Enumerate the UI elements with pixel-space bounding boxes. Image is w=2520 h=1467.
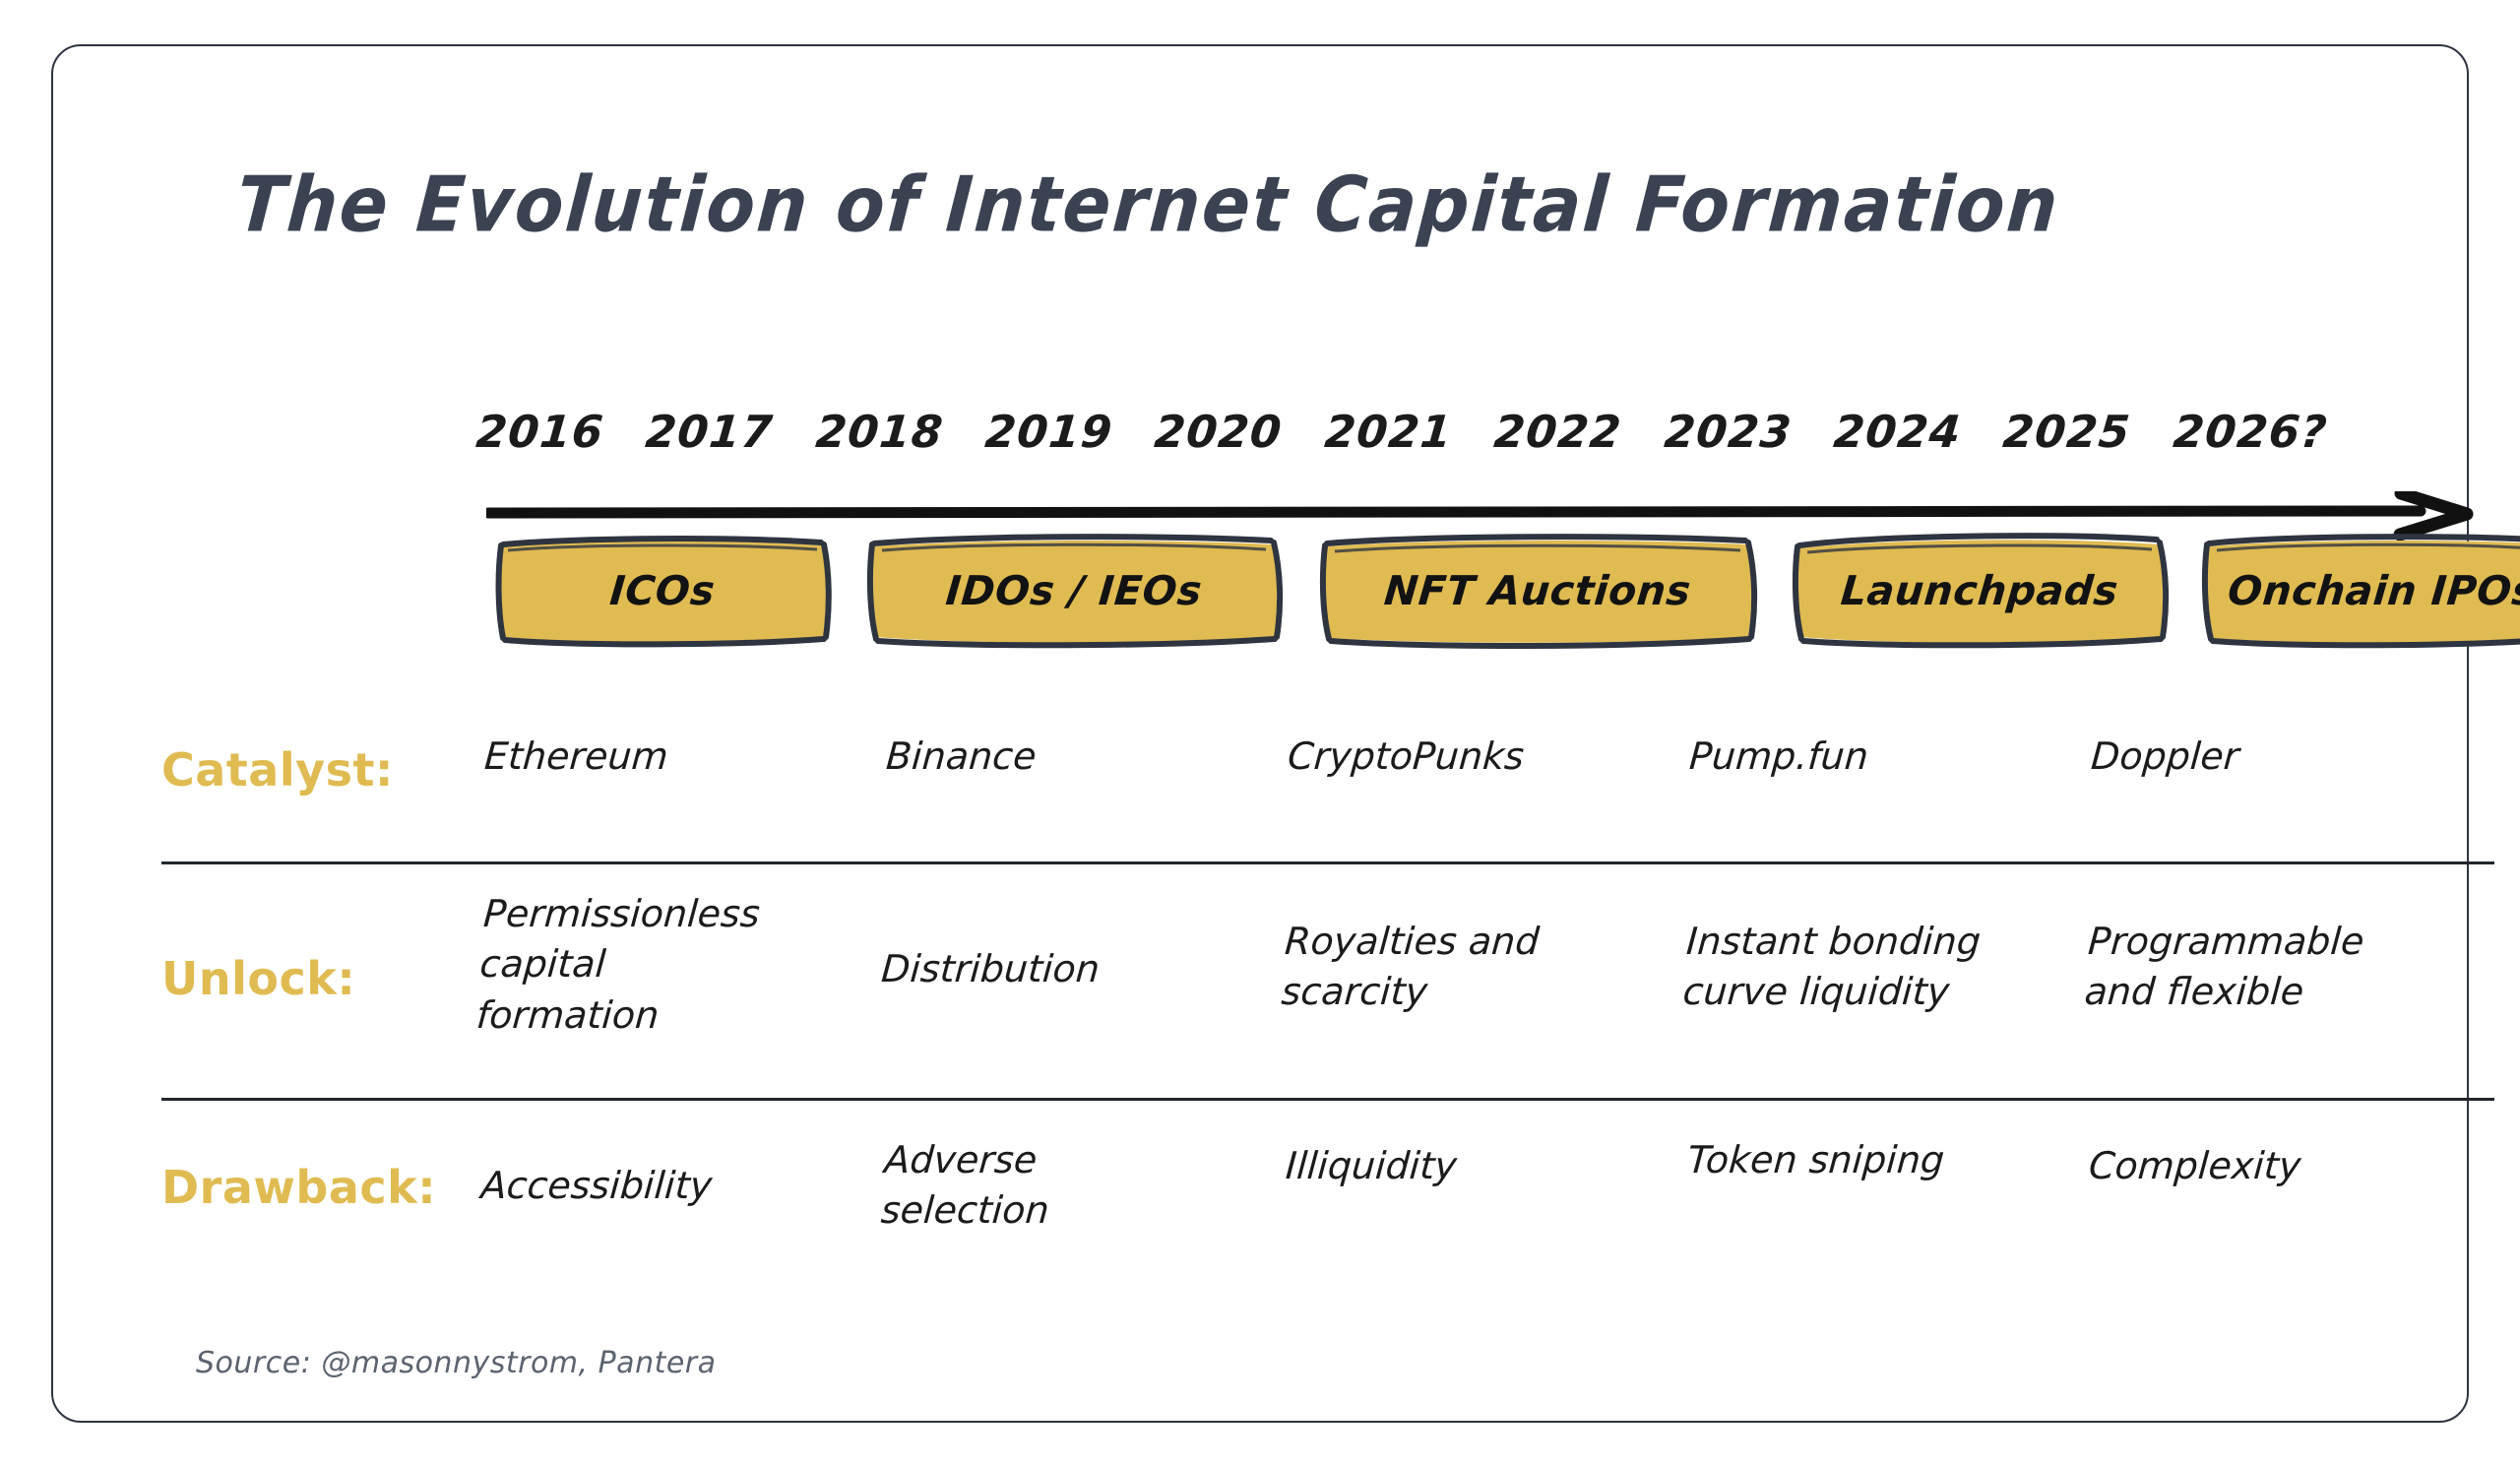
- table-divider-1: [161, 861, 2494, 864]
- cell-drawback-icos: Accessibility: [479, 1112, 888, 1211]
- cell-drawback-onchain: Complexity: [2087, 1112, 2494, 1191]
- cell-catalyst-idos: Binance: [884, 732, 1290, 782]
- year-label-2018: 2018: [813, 406, 945, 458]
- comparison-table: Catalyst: Ethereum Binance CryptoPunks P…: [161, 708, 2494, 1259]
- cell-unlock-nft: Royalties and scarcity: [1280, 875, 1691, 1018]
- year-label-2016: 2016: [474, 406, 606, 458]
- cell-catalyst-nft: CryptoPunks: [1286, 732, 1691, 782]
- stage-box-idos-ieos[interactable]: IDOs / IEOs: [858, 527, 1290, 655]
- cell-unlock-launchpads: Instant bonding curve liquidity: [1681, 875, 2093, 1018]
- cell-drawback-idos: Adverse selection: [879, 1112, 1290, 1237]
- stage-label: Launchpads: [1778, 527, 2180, 655]
- cell-unlock-onchain: Programmable and flexible: [2083, 875, 2494, 1018]
- stage-label: IDOs / IEOs: [852, 527, 1294, 655]
- stage-box-row: ICOs IDOs / IEOs NFT Auctions: [486, 527, 2485, 655]
- cell-drawback-nft: Illiquidity: [1284, 1112, 1691, 1191]
- row-cells: Ethereum Binance CryptoPunks Pump.fun Do…: [486, 732, 2494, 782]
- stage-label: NFT Auctions: [1305, 527, 1769, 655]
- year-label-2024: 2024: [1832, 406, 1964, 458]
- year-label-2026: 2026?: [2171, 406, 2329, 458]
- year-label-2017: 2017: [644, 406, 776, 458]
- year-label-2021: 2021: [1322, 406, 1454, 458]
- cell-catalyst-onchain: Doppler: [2089, 732, 2494, 782]
- stage-label: ICOs: [480, 527, 844, 655]
- card-frame: The Evolution of Internet Capital Format…: [51, 44, 2469, 1423]
- cell-unlock-idos: Distribution: [880, 875, 1290, 994]
- cell-drawback-launchpads: Token sniping: [1686, 1112, 2093, 1185]
- timeline-year-axis: 2016 2017 2018 2019 2020 2021 2022 2023 …: [476, 406, 2327, 458]
- row-cells: Permissionless capital formation Distrib…: [486, 875, 2494, 1041]
- cell-catalyst-icos: Ethereum: [482, 732, 888, 782]
- stage-box-nft-auctions[interactable]: NFT Auctions: [1311, 527, 1764, 655]
- cell-unlock-icos: Permissionless capital formation: [474, 875, 888, 1041]
- row-cells: Accessibility Adverse selection Illiquid…: [486, 1112, 2494, 1237]
- table-divider-2: [161, 1098, 2494, 1101]
- stage-label: Onchain IPOs: [2189, 527, 2520, 655]
- year-label-2019: 2019: [983, 406, 1115, 458]
- cell-catalyst-launchpads: Pump.fun: [1687, 732, 2093, 782]
- row-label-catalyst: Catalyst:: [161, 743, 394, 797]
- page-title: The Evolution of Internet Capital Format…: [234, 159, 2063, 249]
- row-label-unlock: Unlock:: [161, 952, 355, 1005]
- year-label-2020: 2020: [1153, 406, 1285, 458]
- year-label-2023: 2023: [1662, 406, 1794, 458]
- stage-box-launchpads[interactable]: Launchpads: [1784, 527, 2175, 655]
- row-label-drawback: Drawback:: [161, 1161, 436, 1214]
- stage-box-onchain-ipos[interactable]: Onchain IPOs: [2195, 527, 2520, 655]
- year-label-2025: 2025: [2001, 406, 2133, 458]
- source-note: Source: @masonnystrom, Pantera: [196, 1346, 717, 1380]
- year-label-2022: 2022: [1492, 406, 1624, 458]
- stage-box-icos[interactable]: ICOs: [486, 527, 839, 655]
